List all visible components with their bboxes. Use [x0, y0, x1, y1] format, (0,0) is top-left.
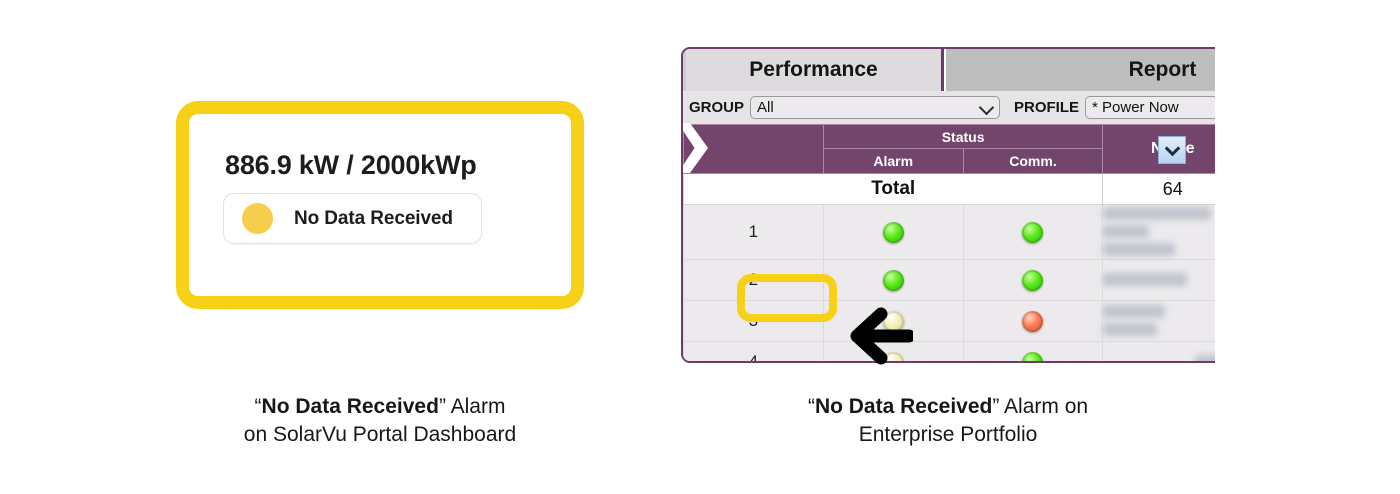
caption-right-bold: No Data Received	[815, 395, 992, 418]
site-name-cell[interactable]	[1103, 301, 1215, 342]
dashboard-card-highlight: 886.9 kW / 2000kWp No Data Received	[176, 101, 584, 309]
alarm-column-header: Alarm	[823, 149, 963, 174]
profile-label: PROFILE	[1014, 99, 1079, 116]
chevron-down-icon	[979, 99, 995, 115]
caption-left-line1: “No Data Received” Alarm	[130, 393, 630, 421]
row-index: 3	[684, 301, 824, 342]
redacted-name	[1103, 305, 1165, 318]
pointer-arrow-icon	[843, 306, 913, 366]
caption-left-bold: No Data Received	[262, 395, 439, 418]
redacted-name	[1103, 323, 1157, 336]
table-row[interactable]: 3	[684, 301, 1216, 342]
redacted-name	[1103, 243, 1175, 256]
solarvu-dashboard-card: 886.9 kW / 2000kWp No Data Received	[189, 114, 571, 296]
status-badge[interactable]: No Data Received	[223, 193, 482, 244]
caption-right-line2: Enterprise Portfolio	[700, 421, 1196, 449]
power-value-text: 886.9 kW / 2000kWp	[225, 152, 537, 179]
redacted-name	[1195, 355, 1215, 363]
row-index: 1	[684, 205, 824, 260]
table-header-row-1: Status Name Sel	[684, 125, 1216, 149]
tab-bar: Performance Report	[683, 49, 1215, 91]
profile-select[interactable]: * Power Now	[1085, 96, 1215, 119]
portfolio-table: Status Name Sel Alarm Comm. Total 64 1	[683, 124, 1215, 363]
alarm-led-icon	[883, 222, 904, 243]
table-row[interactable]: 1	[684, 205, 1216, 260]
table-row[interactable]: 2	[684, 260, 1216, 301]
site-name-cell[interactable]	[1103, 205, 1215, 260]
total-label: Total	[684, 174, 1103, 205]
caption-right-line1: “No Data Received” Alarm on	[700, 393, 1196, 421]
portfolio-panel-frame: Performance Report GROUP All PROFILE * P…	[681, 47, 1215, 363]
group-label: GROUP	[689, 99, 744, 116]
tab-performance[interactable]: Performance	[686, 49, 944, 91]
table-row[interactable]: 4	[684, 342, 1216, 364]
site-name-cell[interactable]	[1103, 342, 1215, 364]
redacted-name	[1103, 207, 1211, 220]
redacted-name	[1103, 225, 1149, 238]
quote-close: ”	[439, 395, 446, 418]
comm-led-icon	[1022, 222, 1043, 243]
group-select[interactable]: All	[750, 96, 1000, 119]
status-badge-label: No Data Received	[294, 208, 453, 230]
row-index: 4	[684, 342, 824, 364]
name-sort-button[interactable]	[1158, 136, 1186, 164]
comm-column-header: Comm.	[963, 149, 1103, 174]
site-name-cell[interactable]	[1103, 260, 1215, 301]
total-row: Total 64 1	[684, 174, 1216, 205]
caption-right-tail: Alarm on	[999, 395, 1088, 418]
alarm-led-icon	[883, 270, 904, 291]
chevron-right-icon	[681, 123, 708, 173]
enterprise-portfolio-panel: Performance Report GROUP All PROFILE * P…	[681, 47, 1215, 363]
quote-open: “	[255, 395, 262, 418]
status-dot-icon	[242, 203, 273, 234]
redacted-name	[1103, 273, 1187, 286]
expand-column-header[interactable]	[684, 125, 824, 174]
alarm-status-cell[interactable]	[823, 205, 963, 260]
comm-led-icon	[1022, 270, 1043, 291]
caption-left-line2: on SolarVu Portal Dashboard	[130, 421, 630, 449]
filter-row: GROUP All PROFILE * Power Now	[683, 91, 1215, 124]
alarm-status-cell[interactable]	[823, 260, 963, 301]
caption-left-tail: Alarm	[446, 395, 506, 418]
comm-status-cell[interactable]	[963, 301, 1103, 342]
profile-select-value: * Power Now	[1092, 99, 1179, 116]
row-index: 2	[684, 260, 824, 301]
caption-right: “No Data Received” Alarm on Enterprise P…	[700, 393, 1196, 448]
group-select-value: All	[757, 99, 774, 116]
status-column-header: Status	[823, 125, 1103, 149]
comm-status-cell[interactable]	[963, 260, 1103, 301]
comm-led-icon	[1022, 352, 1043, 364]
chevron-down-icon	[1164, 140, 1180, 156]
tab-report[interactable]: Report	[944, 49, 1215, 91]
comm-status-cell[interactable]	[963, 342, 1103, 364]
total-name-count: 64	[1103, 174, 1215, 205]
quote-open: “	[808, 395, 815, 418]
caption-left: “No Data Received” Alarm on SolarVu Port…	[130, 393, 630, 448]
comm-led-icon	[1022, 311, 1043, 332]
name-column-header[interactable]: Name	[1103, 125, 1215, 174]
comm-status-cell[interactable]	[963, 205, 1103, 260]
